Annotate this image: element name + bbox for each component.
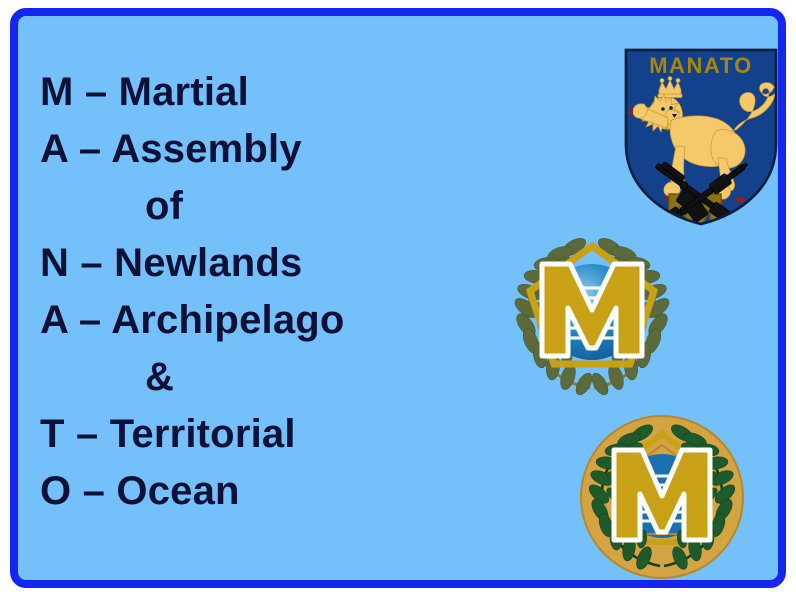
acronym-line-martial: M – Martial [40,64,440,121]
acronym-line-ocean: O – Ocean [40,463,440,520]
acronym-line-territorial: T – Territorial [40,406,440,463]
acronym-line-assembly: A – Assembly [40,121,440,178]
acronym-line-ampersand: & [40,349,440,406]
manato-gold-disc-emblem-icon [578,414,746,580]
acronym-line-newlands: N – Newlands [40,235,440,292]
slide-border-frame: M – Martial A – Assembly of N – Newlands… [10,8,786,588]
slide-canvas: M – Martial A – Assembly of N – Newlands… [0,0,796,598]
acronym-line-of: of [40,178,440,235]
acronym-expansion-list: M – Martial A – Assembly of N – Newlands… [40,64,440,520]
shield-title-text: MANATO [649,53,753,78]
manato-wreath-globe-emblem-icon [502,232,682,397]
manato-shield-crest-icon: MANATO [622,46,780,228]
acronym-line-archipelago: A – Archipelago [40,292,440,349]
